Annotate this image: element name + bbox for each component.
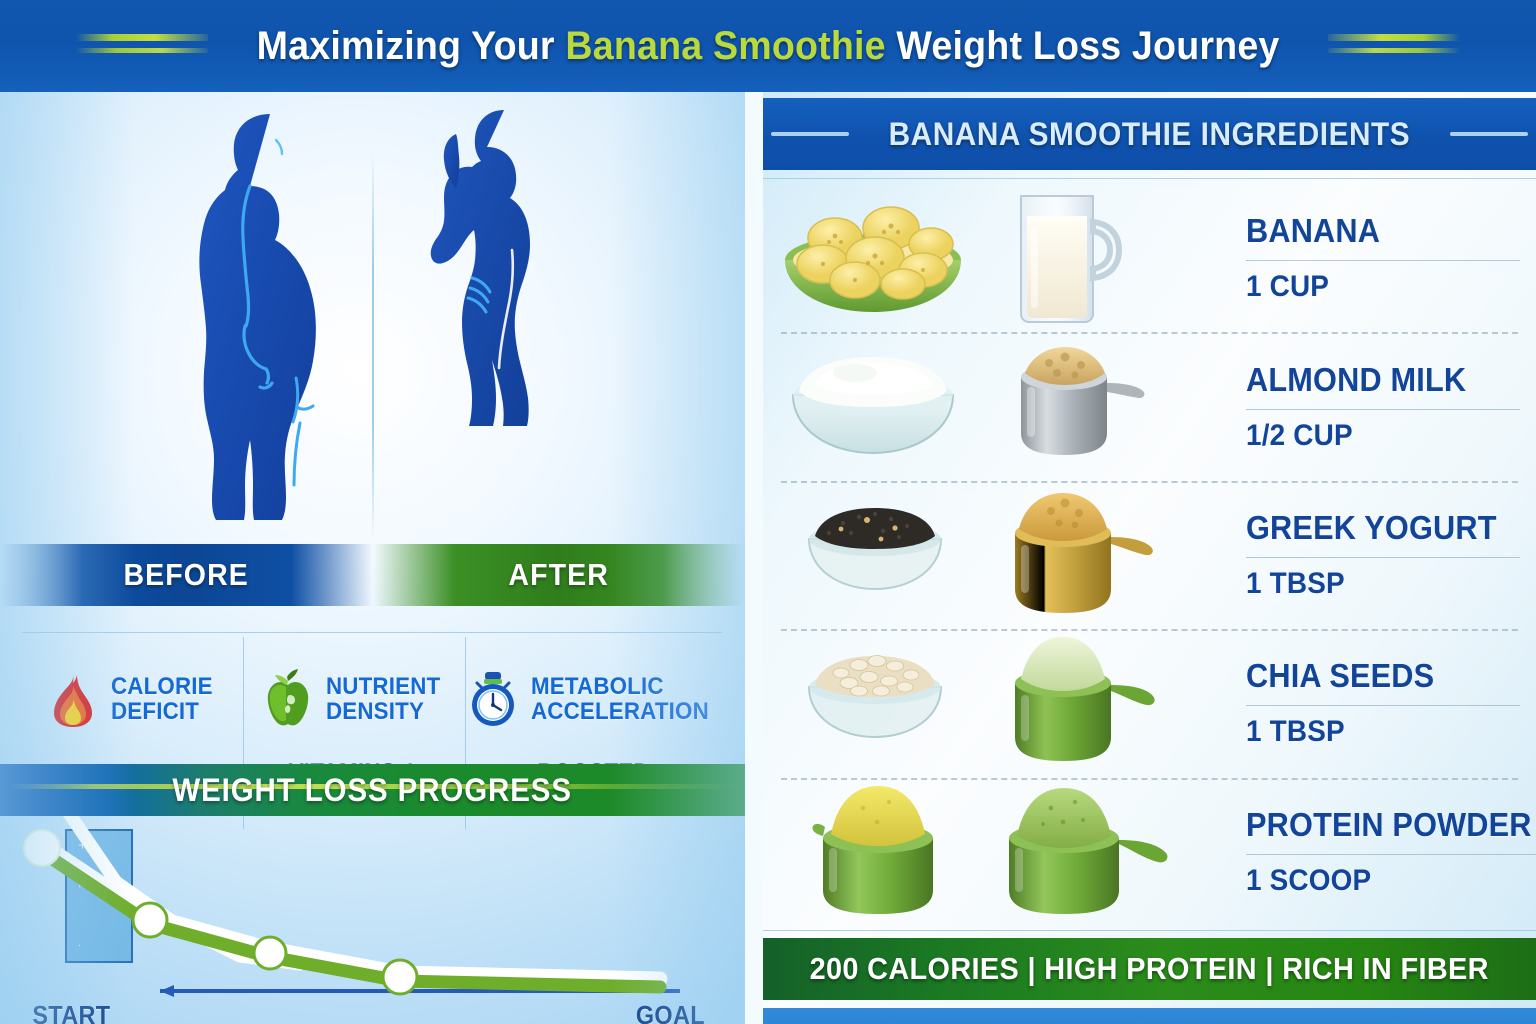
header-dash-right xyxy=(1450,132,1528,136)
ingredient-images xyxy=(763,629,1238,777)
ingredient-row: GREEK YOGURT 1 TBSP xyxy=(763,481,1536,629)
after-silhouette-icon xyxy=(400,102,600,542)
ingredients-panel: BANANA SMOOTHIE INGREDIENTS xyxy=(763,92,1536,1024)
ingredient-text: CHIA SEEDS 1 TBSP xyxy=(1238,657,1536,749)
ingredient-rule xyxy=(1246,557,1520,558)
stopwatch-icon xyxy=(465,669,521,729)
title-accent-rule-right xyxy=(1328,31,1460,61)
ingredient-amount: 1 CUP xyxy=(1246,270,1501,304)
ingredient-amount: 1 TBSP xyxy=(1246,567,1501,601)
panel-gap-divider xyxy=(745,92,763,1024)
ingredient-name: GREEK YOGURT xyxy=(1246,509,1501,547)
benefit-title-line2: DENSITY xyxy=(326,699,440,724)
before-label-chip: BEFORE xyxy=(0,544,373,606)
yellow-scoop-image xyxy=(763,778,1238,926)
svg-text:.: . xyxy=(78,937,81,949)
ingredient-row: ALMOND MILK 1/2 CUP xyxy=(763,332,1536,480)
benefit-title-nutrient-density: NUTRIENT DENSITY xyxy=(326,674,440,724)
before-after-labels: BEFORE AFTER xyxy=(0,544,745,616)
benefit-title-calorie-deficit: CALORIE DEFICIT xyxy=(111,674,213,724)
ingredients-list: BANANA 1 CUP xyxy=(763,184,1536,926)
chia-bowl-image xyxy=(763,481,1238,629)
before-silhouette-icon xyxy=(150,102,380,542)
chart-goal-label: GOAL xyxy=(636,1000,705,1024)
title-suffix: Weight Loss Journey xyxy=(886,24,1280,68)
weight-loss-chart-svg: + , . xyxy=(0,816,745,1016)
benefit-title-line1: CALORIE xyxy=(111,674,213,699)
header-dash-left xyxy=(771,132,849,136)
ingredient-rule xyxy=(1246,409,1520,410)
flame-icon xyxy=(45,669,101,729)
ingredient-images xyxy=(763,778,1238,926)
benefit-title-line2: ACCELERATION xyxy=(531,699,709,724)
ingredient-rule xyxy=(1246,854,1536,855)
after-label-chip: AFTER xyxy=(373,544,746,606)
ingredients-header-title: BANANA SMOOTHIE INGREDIENTS xyxy=(889,116,1411,153)
nutrition-footer-text: 200 CALORIES | HIGH PROTEIN | RICH IN FI… xyxy=(810,951,1489,987)
ingredient-row: CHIA SEEDS 1 TBSP xyxy=(763,629,1536,777)
transformation-panel: BEFORE AFTER CALORIE DEFICIT −500 CAL xyxy=(0,92,745,1024)
ingredient-row: BANANA 1 CUP xyxy=(763,184,1536,332)
ingredient-text: BANANA 1 CUP xyxy=(1238,212,1536,304)
nutrition-footer-banner: 200 CALORIES | HIGH PROTEIN | RICH IN FI… xyxy=(763,938,1536,1000)
ingredient-text: ALMOND MILK 1/2 CUP xyxy=(1238,361,1536,453)
ingredient-text: GREEK YOGURT 1 TBSP xyxy=(1238,509,1536,601)
panel-bottom-strip xyxy=(763,1008,1536,1024)
oats-bowl-image xyxy=(763,629,1238,777)
silhouette-group xyxy=(0,92,745,552)
benefit-title-line1: METABOLIC xyxy=(531,674,709,699)
ingredient-text: PROTEIN POWDER 1 SCOOP xyxy=(1238,806,1536,898)
title-accent-rule-left xyxy=(76,31,208,61)
ingredients-bottom-rule xyxy=(763,930,1536,931)
ingredient-rule xyxy=(1246,705,1520,706)
ingredient-row: PROTEIN POWDER 1 SCOOP xyxy=(763,778,1536,926)
page-title: Maximizing Your Banana Smoothie Weight L… xyxy=(257,24,1280,69)
title-highlight: Banana Smoothie xyxy=(565,24,885,68)
ingredient-amount: 1/2 CUP xyxy=(1246,419,1501,453)
ingredients-header: BANANA SMOOTHIE INGREDIENTS xyxy=(763,98,1536,170)
progress-banner: WEIGHT LOSS PROGRESS xyxy=(0,764,745,816)
title-prefix: Maximizing Your xyxy=(257,24,566,68)
chart-start-label: START xyxy=(32,1000,110,1024)
benefit-title-metabolic-acceleration: METABOLIC ACCELERATION xyxy=(531,674,709,724)
yogurt-bowl-image xyxy=(763,333,1238,481)
benefit-title-line2: DEFICIT xyxy=(111,699,213,724)
ingredient-amount: 1 TBSP xyxy=(1246,715,1501,749)
infographic-page: Maximizing Your Banana Smoothie Weight L… xyxy=(0,0,1536,1024)
ingredient-images xyxy=(763,333,1238,481)
ingredient-images xyxy=(763,481,1238,629)
ingredient-name: BANANA xyxy=(1246,212,1501,250)
ingredient-name: CHIA SEEDS xyxy=(1246,657,1501,695)
before-label: BEFORE xyxy=(124,557,249,593)
banana-bowl-image xyxy=(763,184,1238,332)
ingredients-top-rule xyxy=(763,178,1536,179)
ingredient-images xyxy=(763,184,1238,332)
apple-icon xyxy=(260,669,316,729)
ingredient-name: PROTEIN POWDER xyxy=(1246,806,1532,844)
weight-loss-chart: + , . xyxy=(0,816,745,976)
ingredient-name: ALMOND MILK xyxy=(1246,361,1501,399)
benefit-title-line1: NUTRIENT xyxy=(326,674,440,699)
after-label: AFTER xyxy=(508,557,609,593)
ingredient-rule xyxy=(1246,260,1520,261)
page-title-bar: Maximizing Your Banana Smoothie Weight L… xyxy=(0,0,1536,92)
ingredient-amount: 1 SCOOP xyxy=(1246,864,1532,898)
progress-banner-title: WEIGHT LOSS PROGRESS xyxy=(173,772,573,809)
